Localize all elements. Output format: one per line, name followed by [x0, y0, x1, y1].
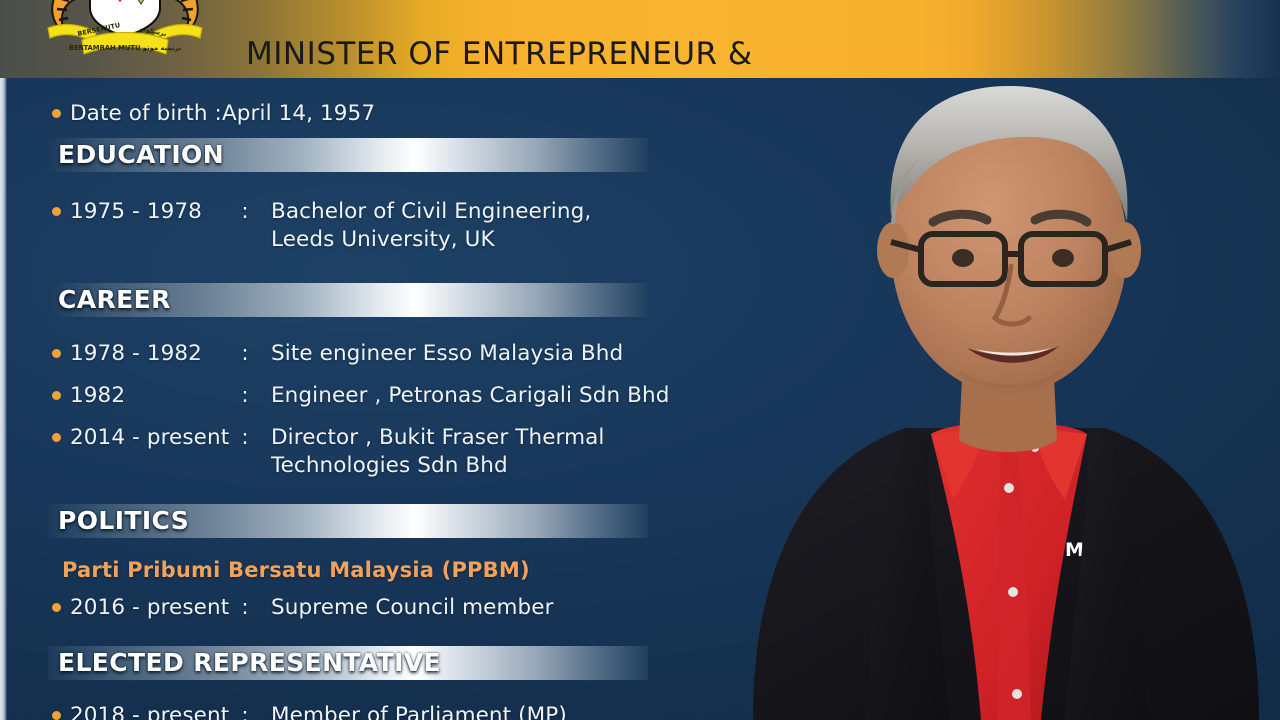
politics-period: 2016 - present [70, 594, 233, 622]
elected-value: Member of Parliament (MP) [257, 702, 712, 720]
section-title: EDUCATION [58, 140, 224, 170]
career-period: 1978 - 1982 [70, 340, 233, 368]
malaysia-coat-of-arms-icon: BERSEKUTU برسكوتو BERTAMBAH MUTU برتمبه … [20, 0, 230, 78]
career-value: Site engineer Esso Malaysia Bhd [257, 340, 712, 368]
bullet-dot-icon [52, 711, 61, 720]
bullet-dot-icon [52, 109, 61, 118]
career-colon: : [233, 424, 257, 452]
politics-value: Supreme Council member [257, 594, 712, 622]
bullet-dot-icon [52, 391, 61, 400]
section-header-elected-representative: ELECTED REPRESENTATIVE [48, 646, 648, 680]
bullet-dot-icon [52, 433, 61, 442]
profile-content: Date of birth : April 14, 1957 EDUCATION… [0, 78, 760, 720]
politics-colon: : [233, 594, 257, 622]
section-header-education: EDUCATION [48, 138, 648, 172]
career-row-1: 1982 : Engineer , Petronas Carigali Sdn … [52, 382, 712, 410]
education-period: 1975 - 1978 [70, 198, 233, 226]
career-value: Director , Bukit Fraser Thermal Technolo… [257, 424, 712, 480]
career-period: 2014 - present [70, 424, 233, 452]
elected-row-0: 2018 - present : Member of Parliament (M… [52, 702, 712, 720]
career-colon: : [233, 340, 257, 368]
career-row-0: 1978 - 1982 : Site engineer Esso Malaysi… [52, 340, 712, 368]
career-period: 1982 [70, 382, 233, 410]
section-title: POLITICS [58, 506, 189, 536]
bullet-dot-icon [52, 349, 61, 358]
emblem-motto-lower: BERTAMBAH MUTU برتمبه موتو [69, 44, 182, 52]
date-of-birth-label: Date of birth : [70, 100, 222, 128]
elected-period: 2018 - present [70, 702, 233, 720]
section-title: CAREER [58, 285, 171, 315]
education-row-0: 1975 - 1978 : Bachelor of Civil Engineer… [52, 198, 692, 254]
date-of-birth-row: Date of birth : April 14, 1957 [52, 100, 612, 128]
career-colon: : [233, 382, 257, 410]
career-row-2: 2014 - present : Director , Bukit Fraser… [52, 424, 712, 480]
bullet-dot-icon [52, 603, 61, 612]
date-of-birth-value: April 14, 1957 [222, 100, 612, 128]
education-value: Bachelor of Civil Engineering, Leeds Uni… [257, 198, 692, 254]
section-header-career: CAREER [48, 283, 648, 317]
bullet-dot-icon [52, 207, 61, 216]
political-party-name: Parti Pribumi Bersatu Malaysia (PPBM) [62, 558, 530, 582]
section-title: ELECTED REPRESENTATIVE [58, 648, 441, 678]
infographic-slide: BERSEKUTU برسكوتو BERTAMBAH MUTU برتمبه … [0, 0, 1280, 720]
section-header-politics: POLITICS [48, 504, 648, 538]
education-colon: : [233, 198, 257, 226]
politics-row-0: 2016 - present : Supreme Council member [52, 594, 712, 622]
portrait-photo: MALA [735, 36, 1280, 720]
career-value: Engineer , Petronas Carigali Sdn Bhd [257, 382, 712, 410]
elected-colon: : [233, 702, 257, 720]
